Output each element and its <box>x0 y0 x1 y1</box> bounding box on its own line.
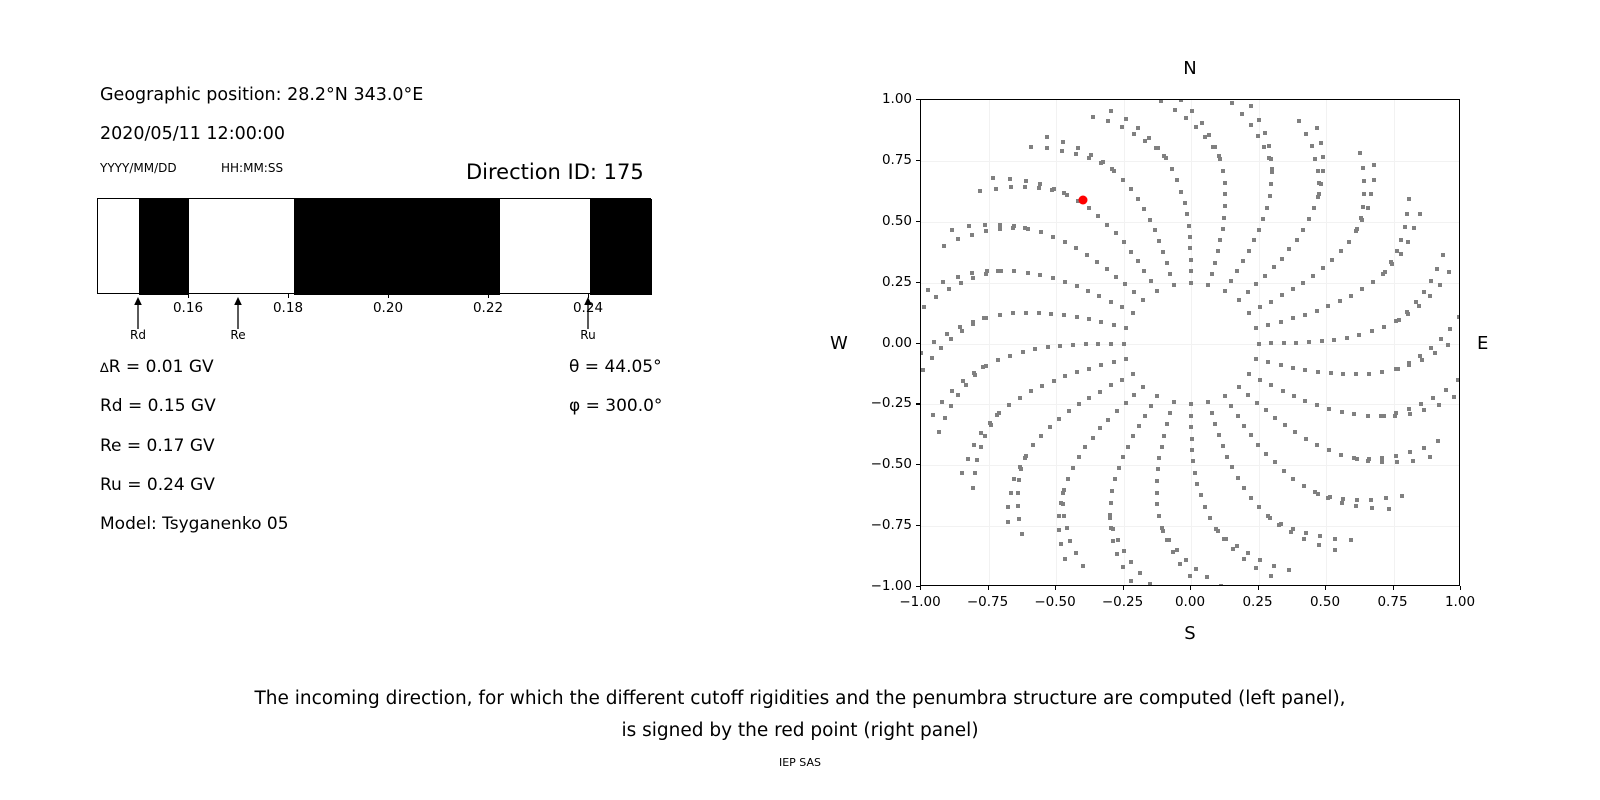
direction-point <box>1315 309 1319 313</box>
direction-point <box>1109 300 1113 304</box>
marker-arrow-re-icon <box>231 297 245 329</box>
geographic-position-text: Geographic position: 28.2°N 343.0°E <box>100 85 423 105</box>
direction-point <box>1157 514 1161 518</box>
direction-point <box>971 276 975 280</box>
direction-point <box>984 229 988 233</box>
direction-point <box>1414 300 1418 304</box>
direction-point <box>1062 191 1066 195</box>
penumbra-forbidden-band <box>294 199 500 295</box>
direction-point <box>1407 197 1411 201</box>
polar-x-tick <box>1393 586 1394 590</box>
direction-point <box>1179 190 1183 194</box>
direction-point <box>1155 289 1159 293</box>
direction-point <box>1369 192 1373 196</box>
direction-point <box>1216 249 1220 253</box>
direction-point <box>1057 514 1061 518</box>
direction-point <box>1066 477 1070 481</box>
direction-point <box>1029 389 1033 393</box>
direction-point <box>1403 225 1407 229</box>
direction-point <box>1240 112 1244 116</box>
direction-point <box>1061 491 1065 495</box>
direction-point <box>1087 367 1091 371</box>
direction-point <box>973 373 977 377</box>
direction-point <box>1333 548 1337 552</box>
direction-point <box>1367 457 1371 461</box>
direction-point <box>922 305 926 309</box>
direction-point <box>960 471 964 475</box>
direction-point <box>1312 206 1316 210</box>
direction-point <box>1193 471 1197 475</box>
direction-point <box>1188 246 1192 250</box>
direction-point <box>950 228 954 232</box>
direction-point <box>1062 514 1066 518</box>
direction-point <box>956 237 960 241</box>
direction-point <box>1354 372 1358 376</box>
direction-point <box>1311 274 1315 278</box>
direction-point <box>1117 466 1121 470</box>
direction-point <box>1315 443 1319 447</box>
direction-point <box>1408 412 1412 416</box>
direction-point <box>1435 267 1439 271</box>
theta-value: θ = 44.05° <box>569 357 662 377</box>
direction-point <box>1407 407 1411 411</box>
direction-point <box>1148 582 1152 586</box>
direction-point <box>1267 156 1271 160</box>
direction-point <box>1124 401 1128 405</box>
direction-point <box>1327 448 1331 452</box>
direction-point <box>1279 522 1283 526</box>
direction-point <box>1175 548 1179 552</box>
direction-point <box>1422 446 1426 450</box>
direction-point <box>1155 502 1159 506</box>
direction-point <box>1189 258 1193 262</box>
direction-point <box>1131 311 1135 315</box>
direction-point <box>1009 185 1013 189</box>
direction-point <box>1074 152 1078 156</box>
direction-point <box>1371 280 1375 284</box>
direction-point <box>1189 269 1193 273</box>
direction-point <box>1143 414 1147 418</box>
direction-point <box>1359 216 1363 220</box>
direction-point <box>1189 425 1193 429</box>
direction-point <box>1256 443 1260 447</box>
ru-value: Ru = 0.24 GV <box>100 475 215 495</box>
direction-point <box>1200 121 1204 125</box>
direction-point <box>1081 564 1085 568</box>
direction-point <box>1355 227 1359 231</box>
direction-point <box>1341 372 1345 376</box>
direction-point <box>1071 466 1075 470</box>
direction-point <box>1051 276 1055 280</box>
direction-point <box>1050 188 1054 192</box>
direction-point <box>1091 436 1095 440</box>
gridline-vertical <box>1191 100 1192 585</box>
direction-point <box>1124 326 1128 330</box>
direction-point <box>1155 479 1159 483</box>
direction-point <box>1191 459 1195 463</box>
direction-point <box>1269 383 1273 387</box>
direction-point <box>1159 99 1163 103</box>
direction-point <box>1187 224 1191 228</box>
direction-point <box>1361 166 1365 170</box>
direction-point <box>1109 342 1113 346</box>
direction-point <box>1099 363 1103 367</box>
direction-point <box>1063 374 1067 378</box>
direction-point <box>942 244 946 248</box>
direction-point <box>1098 426 1102 430</box>
direction-point <box>1291 366 1295 370</box>
direction-point <box>1399 252 1403 256</box>
gridline-horizontal <box>921 344 1459 345</box>
polar-x-tick-label: 0.50 <box>1310 594 1340 610</box>
direction-point <box>1366 206 1370 210</box>
direction-point <box>1447 270 1451 274</box>
direction-point <box>1063 280 1067 284</box>
direction-point <box>1225 455 1229 459</box>
polar-y-tick-label: 0.75 <box>868 152 912 168</box>
direction-point <box>1280 257 1284 261</box>
polar-y-tick <box>916 160 920 161</box>
direction-point <box>1307 340 1311 344</box>
direction-point <box>1236 414 1240 418</box>
gridline-horizontal <box>921 465 1459 466</box>
direction-point <box>1330 258 1334 262</box>
direction-point <box>1189 402 1193 406</box>
direction-point <box>1149 404 1153 408</box>
direction-point <box>1303 399 1307 403</box>
direction-point <box>981 365 985 369</box>
direction-point <box>1017 517 1021 521</box>
direction-point <box>1268 516 1272 520</box>
direction-point <box>1024 179 1028 183</box>
direction-point <box>1246 551 1250 555</box>
direction-point <box>1019 467 1023 471</box>
direction-point <box>1137 424 1141 428</box>
direction-point <box>1235 544 1239 548</box>
direction-point <box>1372 163 1376 167</box>
direction-point <box>1129 187 1133 191</box>
direction-point <box>1122 240 1126 244</box>
direction-point <box>1113 477 1117 481</box>
direction-point <box>1258 305 1262 309</box>
direction-point <box>1229 404 1233 408</box>
direction-point <box>1457 315 1460 319</box>
direction-point <box>1086 289 1090 293</box>
direction-point <box>1110 167 1114 171</box>
direction-point <box>1121 455 1125 459</box>
penumbra-forbidden-band <box>139 199 189 295</box>
direction-point <box>1057 528 1061 532</box>
direction-point <box>1006 520 1010 524</box>
penumbra-bar <box>97 198 651 294</box>
direction-point <box>1173 108 1177 112</box>
direction-point <box>1339 249 1343 253</box>
direction-point <box>1207 133 1211 137</box>
direction-point <box>1249 433 1253 437</box>
direction-point <box>940 400 944 404</box>
direction-point <box>1235 269 1239 273</box>
direction-point <box>1217 433 1221 437</box>
direction-point <box>1345 336 1349 340</box>
direction-point <box>1252 238 1256 242</box>
direction-point <box>1168 272 1172 276</box>
direction-point <box>1242 424 1246 428</box>
direction-point <box>1142 269 1146 273</box>
direction-point <box>1408 450 1412 454</box>
direction-point <box>1016 491 1020 495</box>
direction-point <box>1155 394 1159 398</box>
direction-point <box>1255 401 1259 405</box>
direction-point <box>984 272 988 276</box>
direction-point <box>1229 279 1233 283</box>
right-panel: N S W E −1.00−0.75−0.50−0.250.000.250.50… <box>800 0 1600 660</box>
direction-point <box>1422 290 1426 294</box>
direction-point <box>1456 378 1460 382</box>
direction-point <box>1310 144 1314 148</box>
direction-point <box>1269 182 1273 186</box>
direction-point <box>1033 347 1037 351</box>
direction-point <box>994 187 998 191</box>
direction-point <box>1279 320 1283 324</box>
direction-point <box>1203 505 1207 509</box>
direction-point <box>1219 584 1223 586</box>
direction-point <box>956 275 960 279</box>
direction-point <box>1115 409 1119 413</box>
direction-point <box>1382 414 1386 418</box>
direction-point <box>1270 167 1274 171</box>
direction-point <box>1287 247 1291 251</box>
direction-point <box>945 332 949 336</box>
compass-label-west: W <box>830 333 848 354</box>
direction-point <box>1190 109 1194 113</box>
direction-point <box>1126 445 1130 449</box>
direction-point <box>1352 412 1356 416</box>
direction-point <box>1031 443 1035 447</box>
direction-point <box>1040 384 1044 388</box>
penumbra-tick-label: 0.20 <box>373 300 403 316</box>
polar-y-tick <box>916 221 920 222</box>
phi-value: φ = 300.0° <box>569 396 662 416</box>
gridline-vertical <box>1394 100 1395 585</box>
direction-point <box>1190 448 1194 452</box>
direction-point <box>1190 437 1194 441</box>
polar-x-tick <box>1325 586 1326 590</box>
direction-point <box>1206 283 1210 287</box>
direction-point <box>1428 294 1432 298</box>
polar-x-tick <box>1258 586 1259 590</box>
direction-point <box>937 430 941 434</box>
direction-point <box>1021 350 1025 354</box>
direction-point <box>1106 119 1110 123</box>
direction-point <box>1316 492 1320 496</box>
direction-point <box>1289 530 1293 534</box>
direction-point <box>1304 132 1308 136</box>
direction-point <box>1261 217 1265 221</box>
direction-point <box>1109 501 1113 505</box>
direction-point <box>943 416 947 420</box>
direction-point <box>1258 378 1262 382</box>
direction-point <box>1397 318 1401 322</box>
direction-point <box>1023 456 1027 460</box>
direction-point <box>1141 298 1145 302</box>
marker-arrow-rd-icon <box>131 297 145 329</box>
direction-point <box>1084 342 1088 346</box>
direction-point <box>1023 185 1027 189</box>
direction-point <box>1304 531 1308 535</box>
direction-point <box>1060 149 1064 153</box>
direction-point <box>971 486 975 490</box>
direction-point <box>1061 140 1065 144</box>
polar-y-tick-label: 0.00 <box>868 335 912 351</box>
direction-point <box>926 288 930 292</box>
polar-x-tick-label: −0.50 <box>1034 594 1075 610</box>
penumbra-tick-label: 0.18 <box>273 300 303 316</box>
marker-label-rd: Rd <box>130 328 146 342</box>
direction-point <box>1405 310 1409 314</box>
direction-point <box>1161 529 1165 533</box>
direction-point <box>1358 151 1362 155</box>
direction-point <box>949 337 953 341</box>
direction-point <box>1067 409 1071 413</box>
direction-point <box>1302 484 1306 488</box>
direction-point <box>1405 212 1409 216</box>
direction-point <box>1213 422 1217 426</box>
direction-point <box>1216 529 1220 533</box>
direction-point <box>1122 549 1126 553</box>
direction-point <box>1433 351 1437 355</box>
direction-point <box>1254 357 1258 361</box>
polar-x-tick-label: −1.00 <box>899 594 940 610</box>
direction-point <box>1333 537 1337 541</box>
selected-direction-point[interactable] <box>1079 195 1088 204</box>
direction-point <box>1264 408 1268 412</box>
polar-x-tick <box>1055 586 1056 590</box>
direction-point <box>1332 338 1336 342</box>
direction-point <box>996 269 1000 273</box>
direction-point <box>1136 126 1140 130</box>
direction-point <box>1249 123 1253 127</box>
direction-point <box>1230 101 1234 105</box>
direction-point <box>1087 317 1091 321</box>
polar-y-tick <box>916 99 920 100</box>
direction-point <box>1095 260 1099 264</box>
direction-point <box>1316 370 1320 374</box>
direction-point <box>1184 558 1188 562</box>
direction-point <box>1195 482 1199 486</box>
direction-point <box>1301 228 1305 232</box>
direction-point <box>1099 161 1103 165</box>
direction-point <box>1431 396 1435 400</box>
direction-point <box>1007 403 1011 407</box>
direction-point <box>1357 333 1361 337</box>
direction-point <box>1148 218 1152 222</box>
direction-point <box>1338 299 1342 303</box>
direction-point <box>1008 177 1012 181</box>
direction-point <box>1316 169 1320 173</box>
polar-x-tick-label: −0.25 <box>1102 594 1143 610</box>
penumbra-tick <box>288 294 289 298</box>
direction-point <box>1459 332 1460 336</box>
direction-point <box>1122 342 1126 346</box>
delta-r-value: ∆R = 0.01 GV <box>100 357 214 377</box>
direction-point <box>1208 516 1212 520</box>
direction-point <box>1272 265 1276 269</box>
direction-point <box>1188 235 1192 239</box>
direction-point <box>1132 393 1136 397</box>
delta-r-text: R = 0.01 GV <box>109 357 214 377</box>
direction-point <box>1294 341 1298 345</box>
direction-point <box>1121 565 1125 569</box>
direction-point <box>967 224 971 228</box>
direction-point <box>931 413 935 417</box>
direction-point <box>1269 300 1273 304</box>
gridline-vertical <box>1326 100 1327 585</box>
direction-point <box>1400 494 1404 498</box>
direction-point <box>1321 169 1325 173</box>
direction-point <box>1149 279 1153 283</box>
polar-y-tick-label: −0.50 <box>868 456 912 472</box>
direction-point <box>1175 178 1179 182</box>
direction-point <box>1045 146 1049 150</box>
direction-point <box>1085 253 1089 257</box>
direction-point <box>1394 411 1398 415</box>
direction-point <box>1223 192 1227 196</box>
direction-point <box>1184 116 1188 120</box>
direction-point <box>1165 261 1169 265</box>
direction-point <box>1317 181 1321 185</box>
direction-point <box>1263 274 1267 278</box>
direction-point <box>1170 167 1174 171</box>
caption-line-2: is signed by the red point (right panel) <box>0 715 1600 747</box>
direction-point <box>1362 179 1366 183</box>
gridline-vertical <box>1056 100 1057 585</box>
direction-point <box>1382 325 1386 329</box>
polar-y-tick-label: 1.00 <box>868 91 912 107</box>
direction-point <box>930 356 934 360</box>
direction-point <box>1124 357 1128 361</box>
asymptotic-directions-plot <box>920 99 1460 586</box>
direction-point <box>1347 240 1351 244</box>
direction-point <box>1109 383 1113 387</box>
direction-point <box>1292 394 1296 398</box>
direction-point <box>1315 126 1319 130</box>
direction-point <box>1112 323 1116 327</box>
direction-point <box>1326 304 1330 308</box>
direction-point <box>983 434 987 438</box>
direction-point <box>1399 238 1403 242</box>
direction-point <box>1437 403 1441 407</box>
direction-point <box>1230 465 1234 469</box>
marker-label-ru: Ru <box>580 328 595 342</box>
direction-point <box>1223 181 1227 185</box>
direction-point <box>1017 478 1021 482</box>
direction-point <box>1068 539 1072 543</box>
direction-point <box>1389 260 1393 264</box>
direction-point <box>1268 194 1272 198</box>
direction-point <box>1396 367 1400 371</box>
direction-point <box>1167 538 1171 542</box>
figure-caption: The incoming direction, for which the di… <box>0 683 1600 747</box>
direction-point <box>1052 379 1056 383</box>
rd-value: Rd = 0.15 GV <box>100 396 216 416</box>
gridline-vertical <box>989 100 990 585</box>
direction-point <box>1349 294 1353 298</box>
polar-x-tick-label: 0.75 <box>1377 594 1407 610</box>
direction-point <box>1249 104 1253 108</box>
direction-point <box>1143 139 1147 143</box>
direction-point <box>1189 414 1193 418</box>
direction-point <box>1258 558 1262 562</box>
